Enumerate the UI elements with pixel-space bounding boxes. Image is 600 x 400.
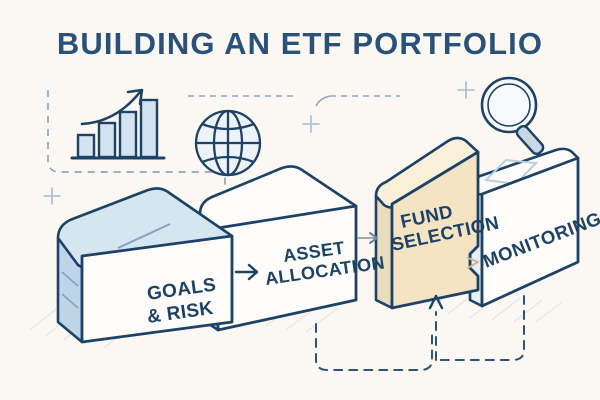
fund-left-face — [376, 196, 392, 308]
page-title: BUILDING AN ETF PORTFOLIO — [0, 26, 600, 62]
plus-mark-right — [458, 82, 474, 98]
feedback-loop-dashed — [316, 296, 524, 370]
globe-icon — [196, 111, 260, 175]
plus-mark-center — [303, 116, 319, 132]
dashed-rule-hook — [316, 96, 330, 106]
bar-chart-growth-icon — [72, 90, 164, 158]
infographic-canvas: MONITORING FUND SELECTION ASSET ALLOC — [0, 0, 600, 400]
magnifier-handle-icon — [515, 124, 545, 156]
plus-mark-left — [44, 188, 60, 204]
magnifier-icon — [482, 78, 545, 156]
arrow-asset-to-fund — [358, 233, 377, 243]
